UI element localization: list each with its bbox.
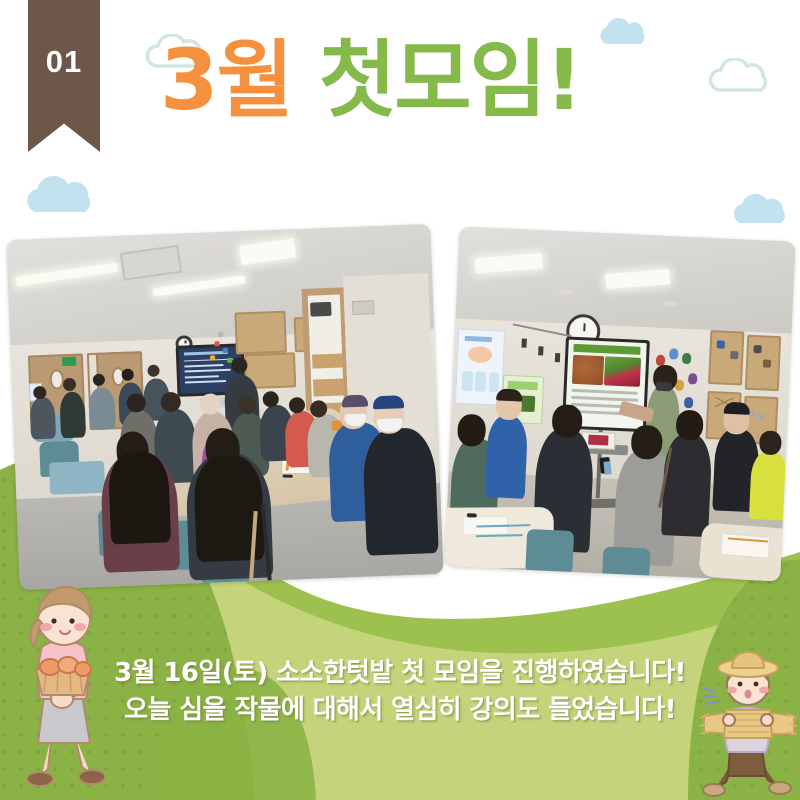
caption-line-1: 3월 16일(토) 소소한텃밭 첫 모임을 진행하였습니다! xyxy=(0,655,800,692)
slide-image-radish-root xyxy=(571,355,603,386)
cloud-top-far-right-filled-icon xyxy=(598,14,654,48)
title-rest: 첫모임! xyxy=(319,31,581,129)
girl-with-vegetable-basket-illustration xyxy=(8,583,120,795)
ribbon-number: 01 xyxy=(46,44,82,80)
cloud-top-right-icon xyxy=(708,58,774,98)
boy-with-straw-bundle-illustration xyxy=(698,650,798,800)
title-space xyxy=(292,31,319,129)
caption-line-2: 오늘 심을 작물에 대해서 열심히 강의도 들었습니다! xyxy=(0,692,800,729)
photo-lecture-screen xyxy=(444,227,795,582)
page-title: 3월 첫모임! xyxy=(160,36,581,124)
caption-text: 3월 16일(토) 소소한텃밭 첫 모임을 진행하였습니다! 오늘 심을 작물에… xyxy=(0,655,800,729)
slide-image-radish-bunch xyxy=(604,356,641,387)
photo-meeting-room-table xyxy=(6,224,443,590)
number-ribbon: 01 xyxy=(28,0,100,152)
title-month: 3월 xyxy=(160,31,292,129)
slide-heading-bar xyxy=(573,344,640,355)
cloud-mid-left-filled-icon xyxy=(24,170,106,218)
cloud-mid-right-filled-icon xyxy=(731,188,797,228)
promo-card: 01 3월 첫모임! xyxy=(0,0,800,800)
